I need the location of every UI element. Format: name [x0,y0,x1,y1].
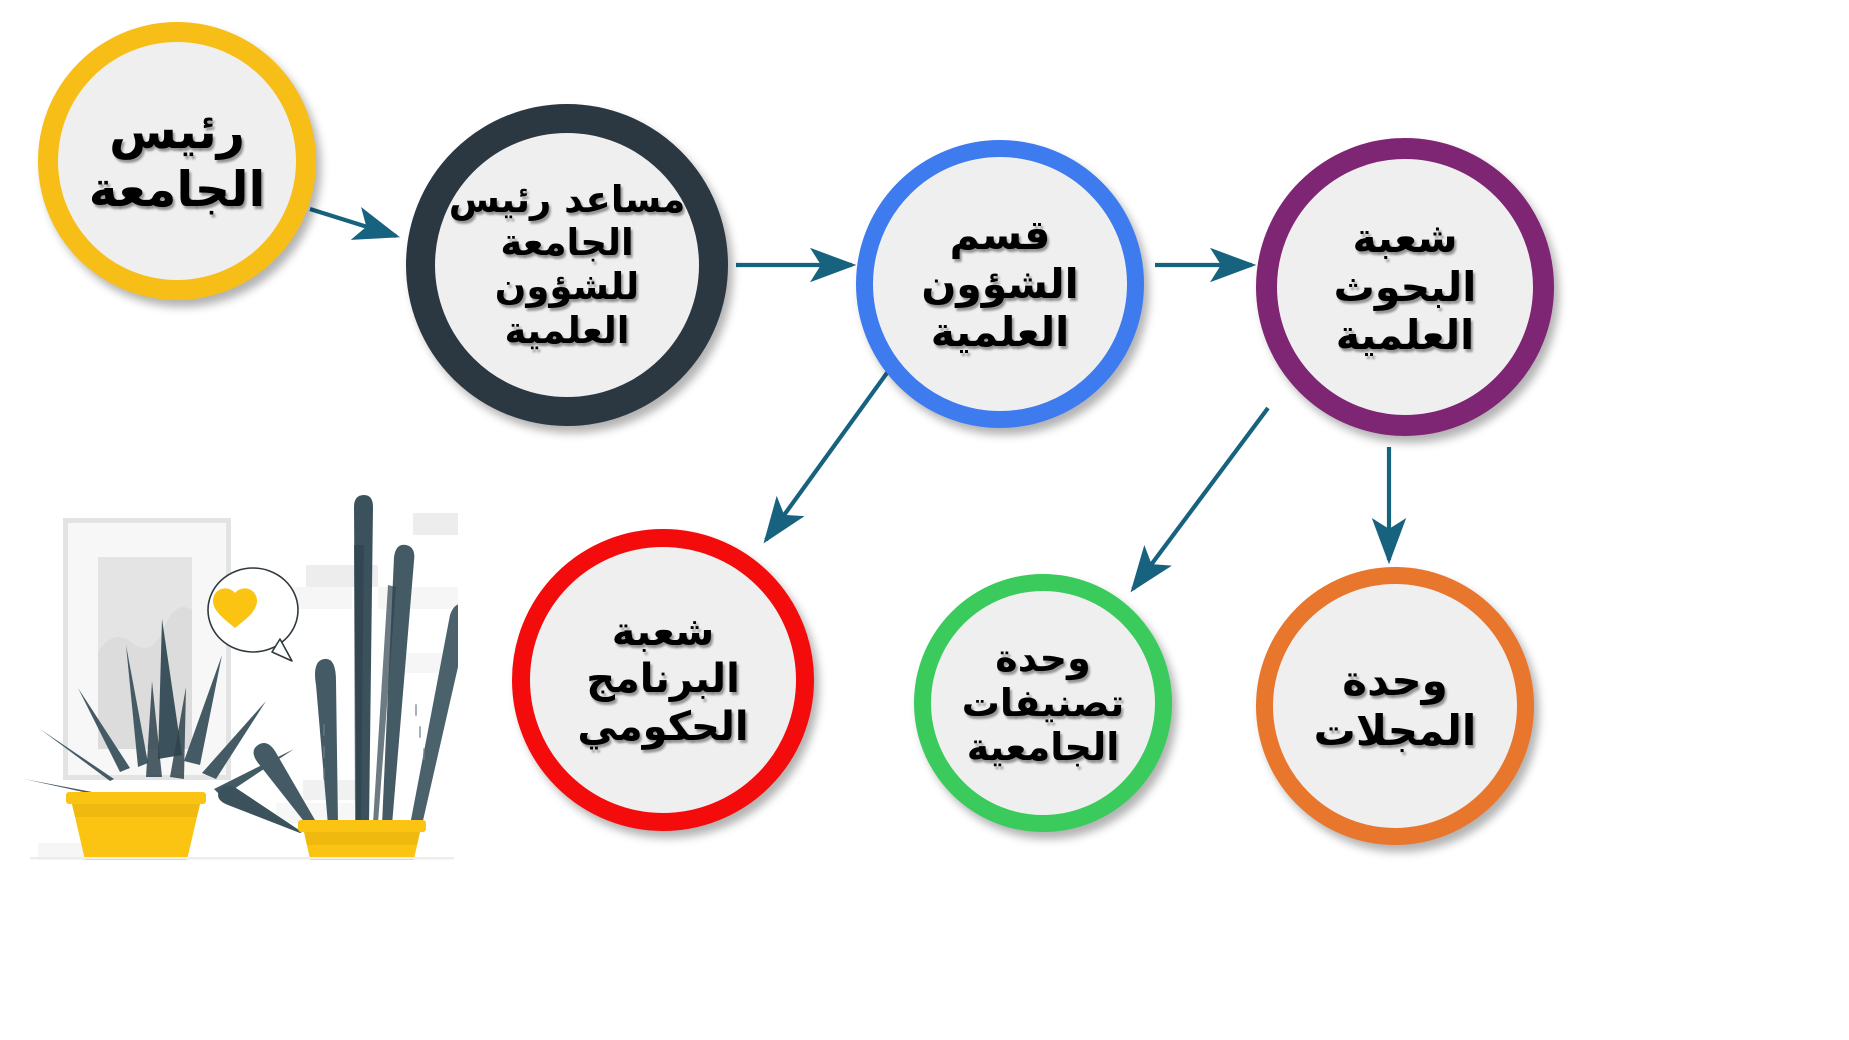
potted-plants-illustration [18,425,458,860]
node-govprogram[interactable]: شعبة البرنامج الحكومي [512,529,814,831]
picture-frame-icon [63,518,231,780]
node-govprogram-label: شعبة البرنامج الحكومي [530,609,796,751]
ground-line [30,857,454,860]
node-assistant[interactable]: مساعد رئيس الجامعة للشؤون العلمية [406,104,728,426]
node-rankings[interactable]: وحدة تصنيفات الجامعية [914,574,1172,832]
node-dept[interactable]: قسم الشؤون العلمية [856,140,1144,428]
node-president-label: رئيس الجامعة [58,103,296,219]
pot-rim-icon [66,792,206,804]
connector-research-rankings [1133,408,1268,589]
node-journals-label: وحدة المجلات [1273,656,1517,755]
node-journals[interactable]: وحدة المجلات [1256,567,1534,845]
node-research-label: شعبة البحوث العلمية [1277,214,1533,359]
org-chart-canvas: رئيس الجامعة مساعد رئيس الجامعة للشؤون ا… [0,0,1849,1040]
connector-president-assistant [310,209,396,236]
pot-rim-icon [298,820,426,832]
node-assistant-label: مساعد رئيس الجامعة للشؤون العلمية [435,178,699,353]
connector-dept-govprogram [766,366,892,540]
node-dept-label: قسم الشؤون العلمية [873,211,1127,356]
node-research[interactable]: شعبة البحوث العلمية [1256,138,1554,436]
node-rankings-label: وحدة تصنيفات الجامعية [931,636,1155,770]
node-president[interactable]: رئيس الجامعة [38,22,316,300]
